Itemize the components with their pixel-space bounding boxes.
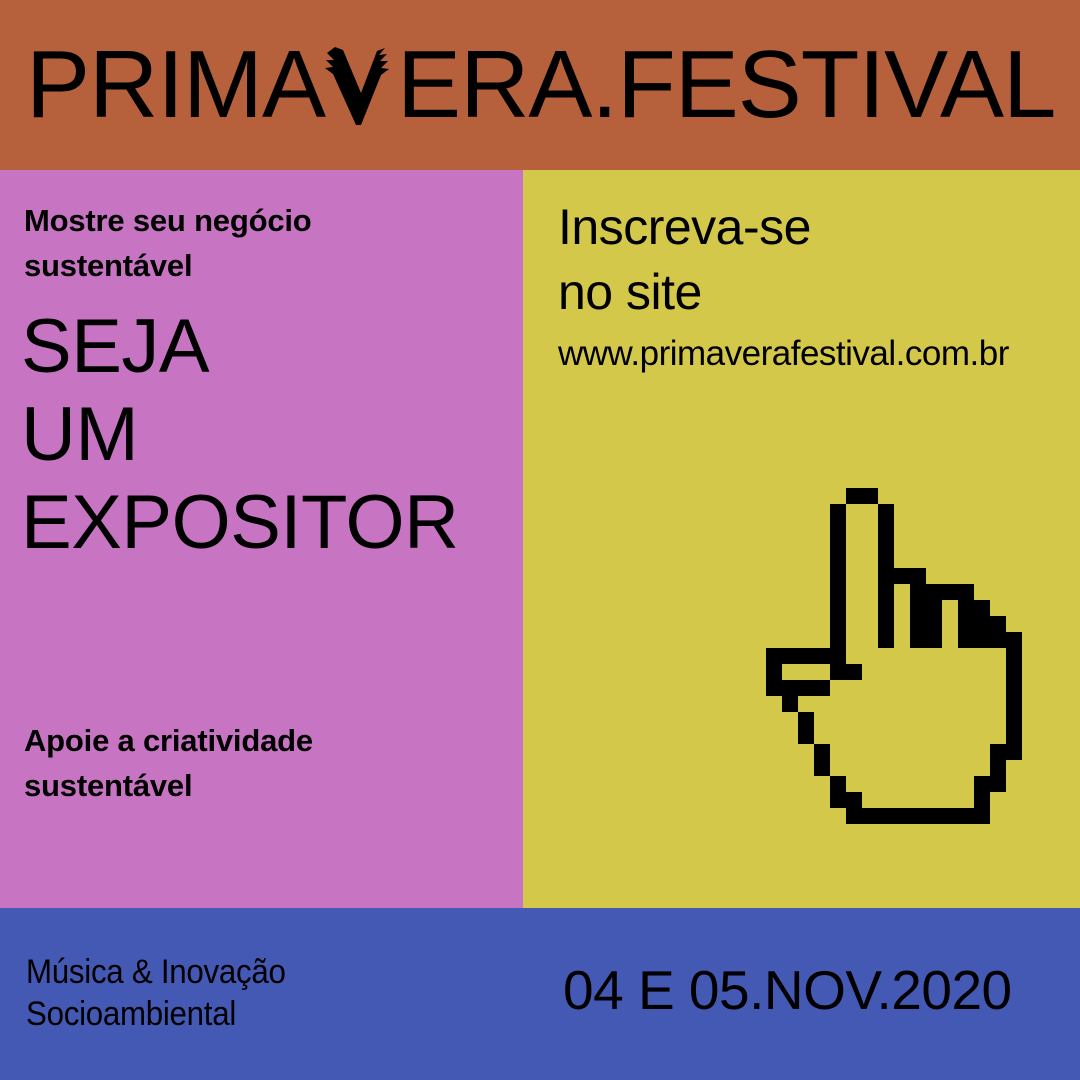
creativity-kicker-bottom: Apoie a criatividade sustentável xyxy=(24,718,494,808)
pointing-hand-cursor-icon xyxy=(766,488,1022,840)
exhibitor-kicker-top-line1: Mostre seu negócio xyxy=(24,198,494,243)
main-headline-line2: UM xyxy=(21,391,521,479)
brand-title-suffix: FESTIVAL xyxy=(617,37,1055,133)
signup-cta-line2: no site xyxy=(558,260,1058,325)
festival-tagline-line1: Música & Inovação xyxy=(26,951,449,993)
main-headline-line1: SEJA xyxy=(21,303,521,391)
header-band: PRIMAERA.FESTIVAL xyxy=(0,0,1080,170)
brand-title: PRIMAERA.FESTIVAL xyxy=(26,26,1055,144)
right-yellow-panel: Inscreva-se no site www.primaverafestiva… xyxy=(523,170,1080,908)
creativity-kicker-line1: Apoie a criatividade xyxy=(24,718,494,763)
festival-tagline-line2: Socioambiental xyxy=(26,993,449,1035)
main-headline-line3: EXPOSITOR xyxy=(21,479,521,567)
website-url[interactable]: www.primaverafestival.com.br xyxy=(558,333,1068,375)
exhibitor-kicker-top-line2: sustentável xyxy=(24,243,494,288)
brand-title-prefix: PRIMA xyxy=(26,37,325,133)
creativity-kicker-line2: sustentável xyxy=(24,763,494,808)
signup-cta-line1: Inscreva-se xyxy=(558,195,1058,260)
poster-canvas: PRIMAERA.FESTIVAL Mostre seu negócio sus… xyxy=(0,0,1080,1080)
festival-tagline: Música & Inovação Socioambiental xyxy=(26,951,449,1035)
brand-title-separator: . xyxy=(591,37,617,133)
brand-title-mid: ERA xyxy=(397,37,591,133)
leaf-v-icon xyxy=(323,37,399,133)
event-date: 04 E 05.NOV.2020 xyxy=(563,955,1012,1025)
exhibitor-kicker-top: Mostre seu negócio sustentável xyxy=(24,198,494,288)
left-pink-panel: Mostre seu negócio sustentável SEJA UM E… xyxy=(0,170,523,908)
main-headline: SEJA UM EXPOSITOR xyxy=(21,303,521,567)
signup-cta-heading: Inscreva-se no site xyxy=(558,195,1058,325)
